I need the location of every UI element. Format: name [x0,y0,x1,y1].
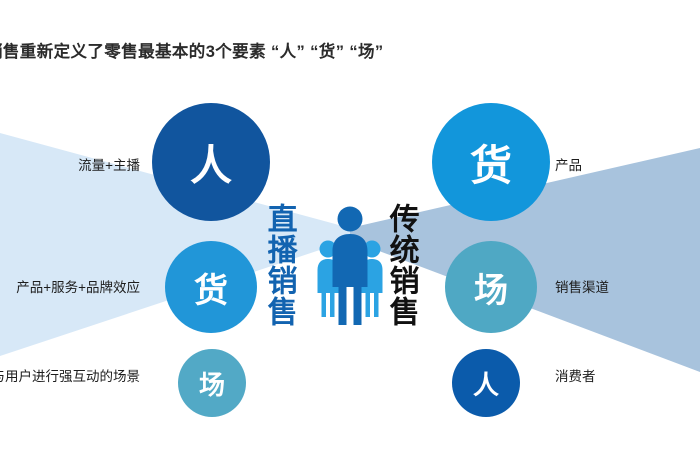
people-group-icon [317,205,383,327]
caption-traditional-selling: 传统销售 [385,203,416,327]
label-left-traffic-anchor: 流量+主播 [0,154,140,174]
circle-right-huo-label: 货 [470,132,512,193]
infographic-canvas: 销售重新定义了零售最基本的3个要素 “人” “货” “场” 人 货 场 货 场 … [0,0,700,470]
circle-left-chang-label: 场 [199,365,225,402]
circle-right-ren-label: 人 [473,365,499,402]
circle-right-ren[interactable]: 人 [452,349,520,417]
circle-left-chang[interactable]: 场 [178,349,246,417]
caption-livestream-selling: 直播销售 [263,203,294,327]
circle-left-ren-label: 人 [190,132,232,193]
label-right-sales-channel: 销售渠道 [555,276,609,296]
circle-left-huo-label: 货 [194,263,228,312]
circle-right-chang-label: 场 [474,263,508,312]
circle-left-ren[interactable]: 人 [152,103,270,221]
page-title: 销售重新定义了零售最基本的3个要素 “人” “货” “场” [0,38,416,68]
circle-left-huo[interactable]: 货 [165,241,257,333]
label-right-consumer: 消费者 [555,365,596,385]
label-left-product-service-brand: 产品+服务+品牌效应 [0,276,140,296]
circle-right-chang[interactable]: 场 [445,241,537,333]
label-left-interaction-scene: 与用户进行强互动的场景 [0,365,140,385]
label-right-product: 产品 [555,154,582,174]
circle-right-huo[interactable]: 货 [432,103,550,221]
person-center-icon [333,207,368,326]
